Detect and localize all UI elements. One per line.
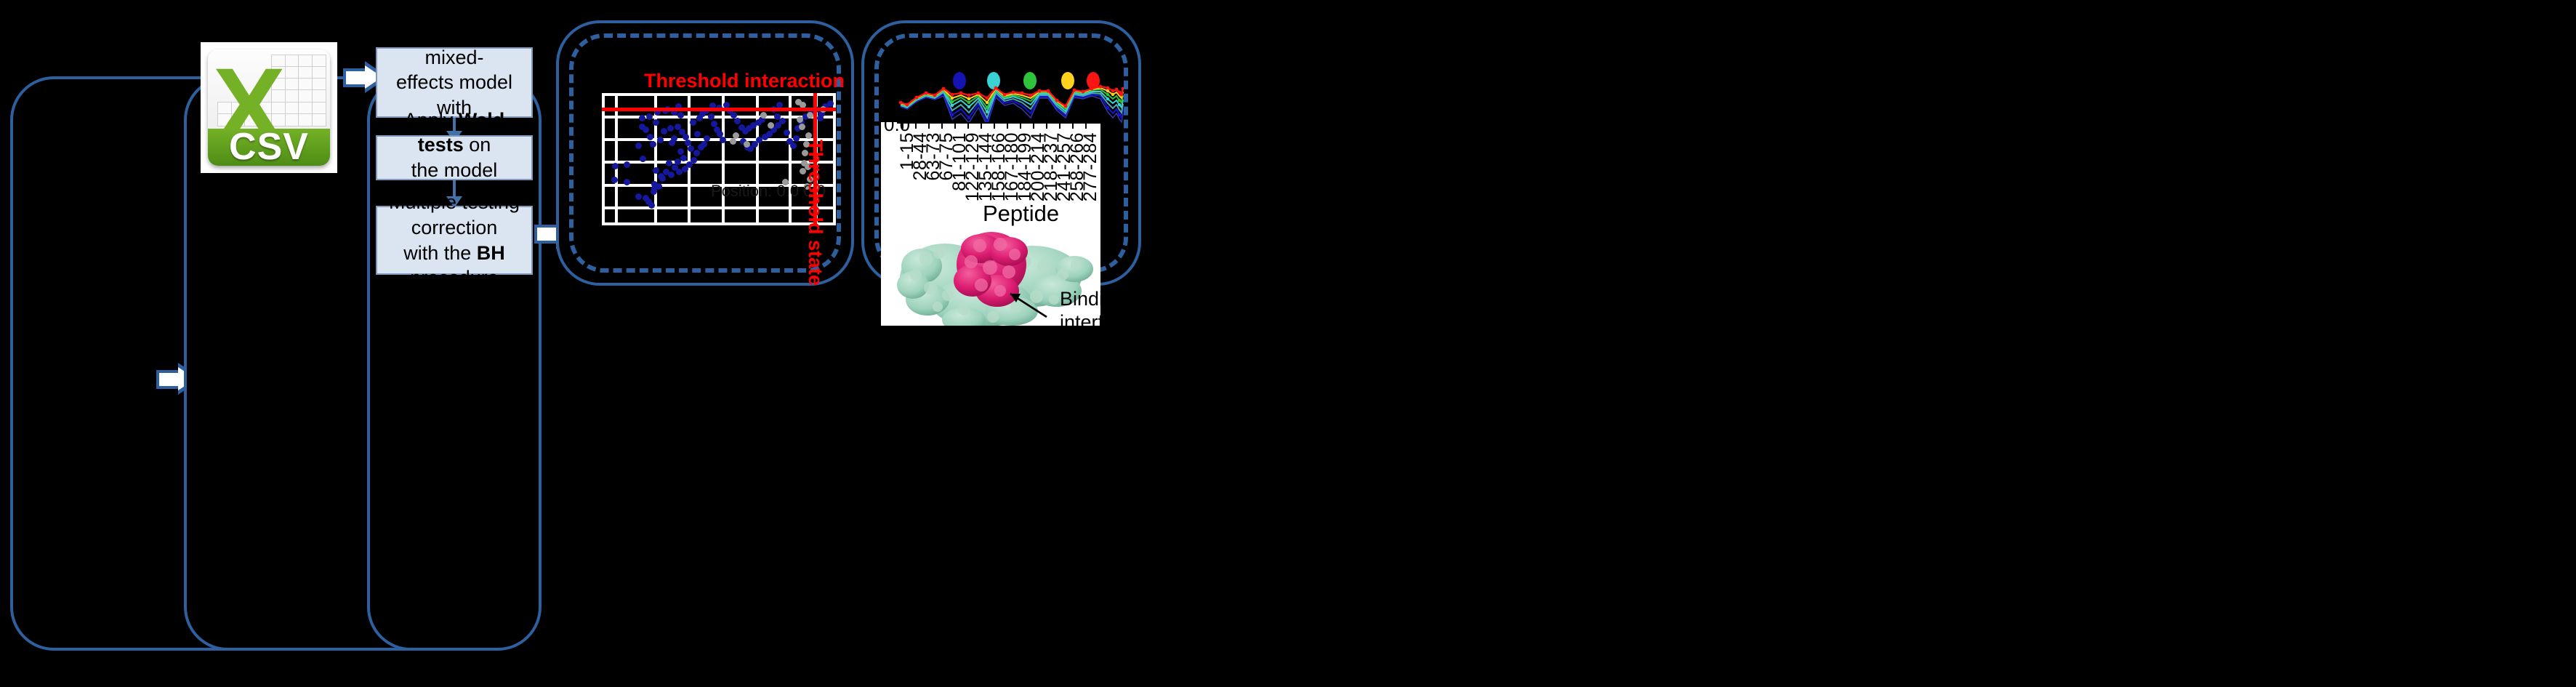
excel-x-letter: X [213, 52, 269, 117]
x-axis [897, 122, 1100, 132]
peptide-line-chart [898, 81, 1124, 125]
annotation-line-1: Binding [1060, 288, 1100, 311]
figure-white-panel: 0.0 1-15 28-44 63-73 67-75 81-101 122-12… [881, 122, 1100, 326]
process-step-2[interactable]: Apply Wald tests on the model parameters [376, 135, 533, 180]
x-axis-label: Peptide [983, 201, 1059, 227]
workflow-diagram: X CSV Fit a linear mixed- effects model … [0, 0, 2576, 687]
binding-interface-annotation: Binding interface [1060, 288, 1100, 326]
threshold-state-label: Threshold state [804, 140, 826, 286]
step3-pre: with the [403, 242, 477, 264]
step3-bold: BH [477, 242, 505, 264]
annotation-line-2: interface [1060, 311, 1100, 326]
step3-post: procedure [410, 267, 499, 289]
peptide-tick-labels: 1-15 28-44 63-73 67-75 81-101 122-129 13… [897, 132, 1100, 202]
step2-pre: Apply [404, 109, 459, 131]
csv-file-card: X CSV [201, 42, 337, 173]
step2-post: on [464, 134, 491, 156]
step3-line2: correction [411, 217, 498, 238]
csv-icon: X CSV [208, 49, 330, 166]
step3-line1: Multiple testing [389, 191, 520, 213]
threshold-interaction-line [602, 108, 836, 111]
process-step-3[interactable]: Multiple testing correction with the BH … [376, 206, 533, 275]
threshold-interaction-label: Threshold interaction [644, 70, 845, 92]
scatter-plot: Position: 0.0 0.0 [602, 93, 836, 225]
peptide-tick: 277-284 [1080, 132, 1100, 201]
step1-line1: Fit a linear mixed- [408, 21, 500, 68]
scatter-gridlines [602, 93, 836, 225]
csv-label: CSV [229, 125, 309, 166]
csv-label-band: CSV [208, 129, 330, 166]
